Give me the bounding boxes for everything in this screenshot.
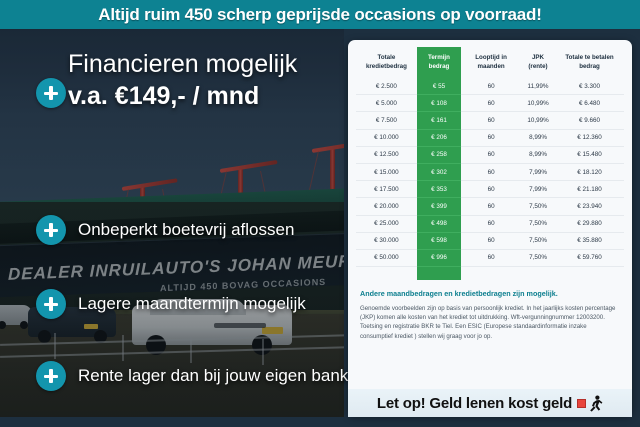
cell-monthly-amount: € 353	[417, 181, 461, 198]
table-cell: € 30.000	[356, 232, 417, 249]
benefit-label: Lagere maandtermijn mogelijk	[78, 294, 306, 314]
table-cell: 60	[461, 112, 521, 129]
table-cell: 60	[461, 163, 521, 180]
table-row: € 2.500€ 556011,99%€ 3.300	[356, 78, 624, 95]
headline-block: Financieren mogelijk v.a. €149,- / mnd	[68, 49, 348, 111]
table-row: € 17.500€ 353607,99%€ 21.180	[356, 181, 624, 198]
headline-line-2: v.a. €149,- / mnd	[68, 81, 348, 111]
plus-icon	[36, 78, 66, 108]
table-cell: € 23.940	[555, 198, 624, 215]
table-cell-spacer	[555, 267, 624, 280]
plus-icon	[36, 289, 66, 319]
table-cell: € 50.000	[356, 249, 417, 266]
col-header-total-credit: Totale kredietbedrag	[356, 47, 417, 78]
rates-table: Totale kredietbedrag Termijn bedrag Loop…	[356, 47, 624, 280]
table-cell: € 18.120	[555, 163, 624, 180]
table-cell: 7,99%	[521, 163, 555, 180]
table-cell: € 15.000	[356, 163, 417, 180]
cell-monthly-amount: € 55	[417, 78, 461, 95]
rates-table-wrapper: Totale kredietbedrag Termijn bedrag Loop…	[348, 40, 632, 284]
benefit-item-3: Rente lager dan bij jouw eigen bank	[36, 361, 348, 391]
table-header-row: Totale kredietbedrag Termijn bedrag Loop…	[356, 47, 624, 78]
table-cell: 8,99%	[521, 129, 555, 146]
cell-monthly-amount: € 206	[417, 129, 461, 146]
table-row: € 25.000€ 498607,50%€ 29.880	[356, 215, 624, 232]
promo-banner: Altijd ruim 450 scherp geprijsde occasio…	[0, 0, 640, 29]
table-cell-spacer	[521, 267, 555, 280]
col-header-apr: JPK (rente)	[521, 47, 555, 78]
cell-monthly-amount: € 498	[417, 215, 461, 232]
table-cell: 60	[461, 146, 521, 163]
table-cell: 11,99%	[521, 78, 555, 95]
table-cell: € 35.880	[555, 232, 624, 249]
right-frame-edge	[632, 27, 640, 427]
cell-monthly-amount: € 161	[417, 112, 461, 129]
fineprint-body: Genoemde voorbeelden zijn op basis van p…	[360, 304, 620, 342]
table-cell: € 25.000	[356, 215, 417, 232]
afm-red-box-icon	[577, 399, 586, 408]
table-cell: 7,50%	[521, 198, 555, 215]
afm-walking-figure-icon	[577, 395, 603, 412]
credit-warning-text: Let op! Geld lenen kost geld	[377, 395, 572, 412]
fineprint-title: Andere maandbedragen en kredietbedragen …	[360, 288, 620, 299]
table-row: € 30.000€ 598607,50%€ 35.880	[356, 232, 624, 249]
table-cell: € 9.660	[555, 112, 624, 129]
col-header-total-payable: Totale te betalen bedrag	[555, 47, 624, 78]
table-cell: € 12.360	[555, 129, 624, 146]
table-row: € 10.000€ 206608,99%€ 12.360	[356, 129, 624, 146]
promo-banner-text: Altijd ruim 450 scherp geprijsde occasio…	[98, 5, 541, 25]
table-cell: € 59.760	[555, 249, 624, 266]
cell-monthly-amount: € 996	[417, 249, 461, 266]
rates-table-body: € 2.500€ 556011,99%€ 3.300€ 5.000€ 10860…	[356, 78, 624, 280]
credit-warning-bar: Let op! Geld lenen kost geld	[348, 389, 632, 417]
table-cell: 7,99%	[521, 181, 555, 198]
table-cell: 60	[461, 215, 521, 232]
plus-icon	[36, 361, 66, 391]
table-cell: 8,99%	[521, 146, 555, 163]
table-row: € 50.000€ 996607,50%€ 59.760	[356, 249, 624, 266]
table-cell: 60	[461, 232, 521, 249]
table-cell: € 29.880	[555, 215, 624, 232]
cell-monthly-amount: € 258	[417, 146, 461, 163]
table-cell: 60	[461, 129, 521, 146]
table-cell: € 10.000	[356, 129, 417, 146]
table-cell: 60	[461, 198, 521, 215]
table-cell: 7,50%	[521, 249, 555, 266]
table-cell: € 21.180	[555, 181, 624, 198]
headline-line-1: Financieren mogelijk	[68, 49, 348, 79]
table-cell: € 5.000	[356, 95, 417, 112]
table-row: € 12.500€ 258608,99%€ 15.480	[356, 146, 624, 163]
cell-monthly-amount: € 302	[417, 163, 461, 180]
table-cell-spacer	[461, 267, 521, 280]
table-cell: 7,50%	[521, 232, 555, 249]
table-cell: 10,99%	[521, 112, 555, 129]
table-row: € 5.000€ 1086010,99%€ 6.480	[356, 95, 624, 112]
table-cell: € 6.480	[555, 95, 624, 112]
table-cell: € 2.500	[356, 78, 417, 95]
plus-icon	[36, 215, 66, 245]
financing-card: Totale kredietbedrag Termijn bedrag Loop…	[348, 40, 632, 415]
benefit-item-1: Onbeperkt boetevrij aflossen	[36, 215, 294, 245]
cell-monthly-amount: € 598	[417, 232, 461, 249]
table-cell: 60	[461, 78, 521, 95]
table-cell-spacer	[417, 267, 461, 280]
benefit-label: Onbeperkt boetevrij aflossen	[78, 220, 294, 240]
table-cell-spacer	[356, 267, 417, 280]
table-cell: € 17.500	[356, 181, 417, 198]
table-cell: 60	[461, 249, 521, 266]
cell-monthly-amount: € 108	[417, 95, 461, 112]
table-cell: 60	[461, 181, 521, 198]
table-cell: € 15.480	[555, 146, 624, 163]
cell-monthly-amount: € 399	[417, 198, 461, 215]
table-cell: 7,50%	[521, 215, 555, 232]
table-row: € 20.000€ 399607,50%€ 23.940	[356, 198, 624, 215]
table-cell: 60	[461, 95, 521, 112]
fineprint-block: Andere maandbedragen en kredietbedragen …	[348, 284, 632, 342]
table-cell: € 7.500	[356, 112, 417, 129]
table-cell: € 3.300	[555, 78, 624, 95]
table-row: € 15.000€ 302607,99%€ 18.120	[356, 163, 624, 180]
walking-person-icon	[587, 395, 603, 412]
left-content-overlay: Financieren mogelijk v.a. €149,- / mnd O…	[0, 29, 352, 427]
table-cell: € 12.500	[356, 146, 417, 163]
benefit-label: Rente lager dan bij jouw eigen bank	[78, 366, 348, 386]
table-cell: € 20.000	[356, 198, 417, 215]
benefit-item-2: Lagere maandtermijn mogelijk	[36, 289, 306, 319]
col-header-duration: Looptijd in maanden	[461, 47, 521, 78]
table-cell: 10,99%	[521, 95, 555, 112]
table-row: € 7.500€ 1616010,99%€ 9.660	[356, 112, 624, 129]
table-row-spacer	[356, 267, 624, 280]
col-header-monthly-amount: Termijn bedrag	[417, 47, 461, 78]
